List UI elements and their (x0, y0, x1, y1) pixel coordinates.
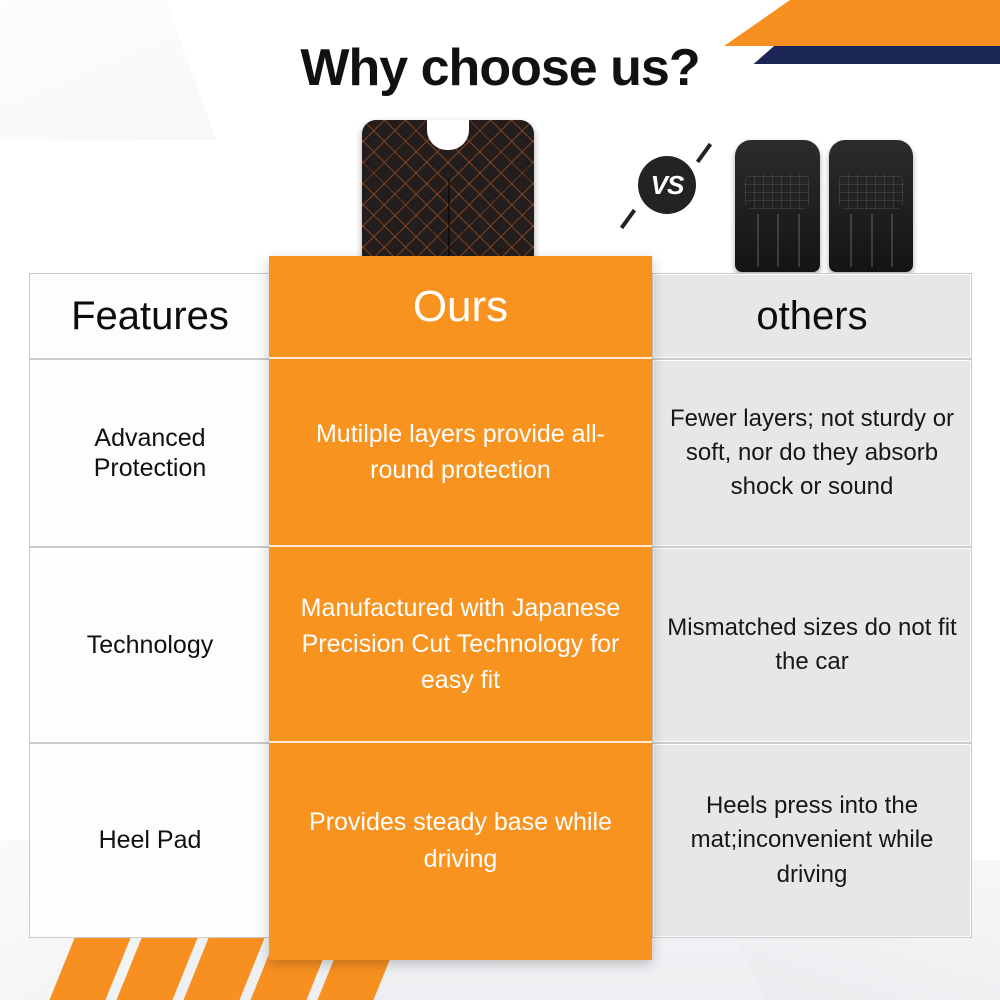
vs-tick-icon (620, 209, 636, 229)
ours-text-row-1: Mutilple layers provide all-round protec… (269, 416, 652, 489)
mat-rib (891, 214, 893, 267)
tread-pattern (745, 174, 809, 208)
ours-header-label: Ours (413, 282, 508, 332)
vs-label: VS (638, 156, 696, 214)
mat-rib (871, 214, 873, 267)
features-header-cell: Features (29, 273, 271, 359)
others-text-row-2: Mismatched sizes do not fit the car (653, 611, 971, 679)
others-product-image (735, 140, 913, 272)
tread-pattern (839, 174, 903, 208)
others-column: others Fewer layers; not sturdy or soft,… (652, 273, 972, 938)
page-title: Why choose us? (0, 38, 1000, 98)
mat-rib (850, 214, 852, 267)
ours-cell-row-1: Mutilple layers provide all-round protec… (269, 359, 652, 547)
ours-header-cell: Ours (269, 256, 652, 359)
mat-rib (777, 214, 779, 267)
others-header-cell: others (652, 273, 972, 359)
mat-rib (757, 214, 759, 267)
stripe (116, 938, 197, 1000)
mat-rib (798, 214, 800, 267)
feature-cell-row-1: Advanced Protection (29, 359, 271, 547)
feature-cell-row-2: Technology (29, 547, 271, 743)
vs-badge: VS (622, 142, 710, 230)
others-cell-row-3: Heels press into the mat;inconvenient wh… (652, 743, 972, 938)
ours-text-row-3: Provides steady base while driving (269, 804, 652, 877)
infographic-canvas: Why choose us? VS Features (0, 0, 1000, 1000)
vs-tick-icon (696, 143, 712, 163)
mat-crease (448, 179, 450, 268)
feature-label-line-2: Protection (94, 454, 207, 482)
features-column: Features Advanced Protection Technology … (29, 273, 271, 938)
ours-column: Ours Mutilple layers provide all-round p… (269, 256, 652, 960)
feature-cell-row-3: Heel Pad (29, 743, 271, 938)
feature-label-line-1: Advanced (94, 424, 205, 452)
rubber-mat-right (829, 140, 914, 272)
others-header-label: others (756, 294, 867, 339)
ours-product-image (362, 120, 534, 268)
features-header-label: Features (71, 294, 229, 339)
ours-cell-row-2: Manufactured with Japanese Precision Cut… (269, 547, 652, 743)
feature-label-row-1: Advanced Protection (94, 423, 207, 484)
others-cell-row-1: Fewer layers; not sturdy or soft, nor do… (652, 359, 972, 547)
rubber-mat-left (735, 140, 820, 272)
ours-text-row-2: Manufactured with Japanese Precision Cut… (269, 590, 652, 699)
feature-label-row-2: Technology (87, 630, 213, 661)
feature-label-row-3: Heel Pad (99, 825, 202, 856)
others-text-row-1: Fewer layers; not sturdy or soft, nor do… (653, 402, 971, 504)
stripe (49, 938, 130, 1000)
stripe (183, 938, 264, 1000)
others-cell-row-2: Mismatched sizes do not fit the car (652, 547, 972, 743)
others-text-row-3: Heels press into the mat;inconvenient wh… (653, 789, 971, 891)
ours-cell-row-3: Provides steady base while driving (269, 743, 652, 938)
